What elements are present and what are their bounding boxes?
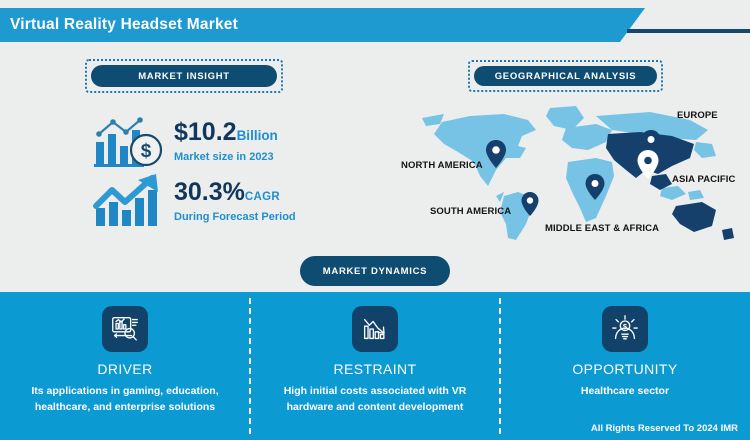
dynamics-panels: DRIVER Its applications in gaming, educa… xyxy=(0,292,750,440)
map-label-north-america: NORTH AMERICA xyxy=(401,160,483,171)
bar-chart-dollar-icon: $ xyxy=(90,112,168,170)
dashboard-analysis-icon xyxy=(102,306,148,352)
market-insight-pill: MARKET INSIGHT xyxy=(85,59,283,93)
map-label-middle-east-africa: MIDDLE EAST & AFRICA xyxy=(545,223,659,234)
geographical-analysis-pill: GEOGRAPHICAL ANALYSIS xyxy=(468,60,663,92)
market-insight-label: MARKET INSIGHT xyxy=(138,71,230,82)
cagr-text: 30.3%CAGR During Forecast Period xyxy=(174,180,296,223)
market-dynamics-label: MARKET DYNAMICS xyxy=(323,266,427,277)
panel-divider-1 xyxy=(249,298,251,434)
svg-text:$: $ xyxy=(141,141,152,162)
market-dynamics-pill-body: MARKET DYNAMICS xyxy=(300,256,450,286)
cagr-stat: 30.3%CAGR During Forecast Period xyxy=(90,172,296,230)
cagr-caption: During Forecast Period xyxy=(174,211,296,223)
market-size-value: $10.2 xyxy=(174,118,237,146)
market-dynamics-band: DRIVER Its applications in gaming, educa… xyxy=(0,292,750,440)
growth-arrow-icon xyxy=(90,172,168,230)
market-insight-pill-body: MARKET INSIGHT xyxy=(91,65,277,87)
geographical-analysis-pill-body: GEOGRAPHICAL ANALYSIS xyxy=(474,66,657,86)
market-size-text: $10.2Billion Market size in 2023 xyxy=(174,120,278,163)
dynamics-title-restraint: RESTRAINT xyxy=(334,361,417,377)
lightbulb-dollar-icon: $ xyxy=(602,306,648,352)
map-continents-light xyxy=(422,106,716,240)
dynamics-panel-driver: DRIVER Its applications in gaming, educa… xyxy=(0,292,250,440)
dynamics-desc-driver: Its applications in gaming, education, h… xyxy=(18,384,233,416)
infographic-canvas: Virtual Reality Headset Market MARKET IN… xyxy=(0,0,750,440)
panel-divider-2 xyxy=(499,298,501,434)
cagr-value-row: 30.3%CAGR xyxy=(174,180,296,205)
geographical-analysis-label: GEOGRAPHICAL ANALYSIS xyxy=(495,71,637,82)
market-size-value-row: $10.2Billion xyxy=(174,120,278,145)
cagr-unit: CAGR xyxy=(245,191,280,203)
market-dynamics-pill: MARKET DYNAMICS xyxy=(300,256,450,286)
market-size-caption: Market size in 2023 xyxy=(174,151,278,163)
dynamics-title-driver: DRIVER xyxy=(97,361,152,377)
dynamics-title-opportunity: OPPORTUNITY xyxy=(572,361,677,377)
dynamics-panel-restraint: RESTRAINT High initial costs associated … xyxy=(250,292,500,440)
map-pin-asia-pacific xyxy=(638,150,659,179)
map-label-south-america: SOUTH AMERICA xyxy=(430,206,511,217)
header: Virtual Reality Headset Market xyxy=(0,8,750,42)
copyright-note: All Rights Reserved To 2024 IMR xyxy=(591,423,738,434)
dynamics-desc-restraint: High initial costs associated with VR ha… xyxy=(268,384,483,416)
page-title: Virtual Reality Headset Market xyxy=(0,16,238,34)
market-size-stat: $ $10.2Billion Market size in 2023 xyxy=(90,112,278,170)
map-label-asia-pacific: ASIA PACIFIC xyxy=(672,174,735,185)
world-map: NORTH AMERICA SOUTH AMERICA MIDDLE EAST … xyxy=(400,100,750,250)
market-size-unit: Billion xyxy=(237,128,278,143)
header-banner: Virtual Reality Headset Market xyxy=(0,8,645,42)
declining-chart-icon xyxy=(352,306,398,352)
cagr-value: 30.3% xyxy=(174,178,245,206)
header-rule-line xyxy=(627,29,750,33)
dynamics-desc-opportunity: Healthcare sector xyxy=(581,384,669,400)
dynamics-panel-opportunity: $ OPPORTUNITY Healthcare sector xyxy=(500,292,750,440)
map-label-europe: EUROPE xyxy=(677,110,718,121)
